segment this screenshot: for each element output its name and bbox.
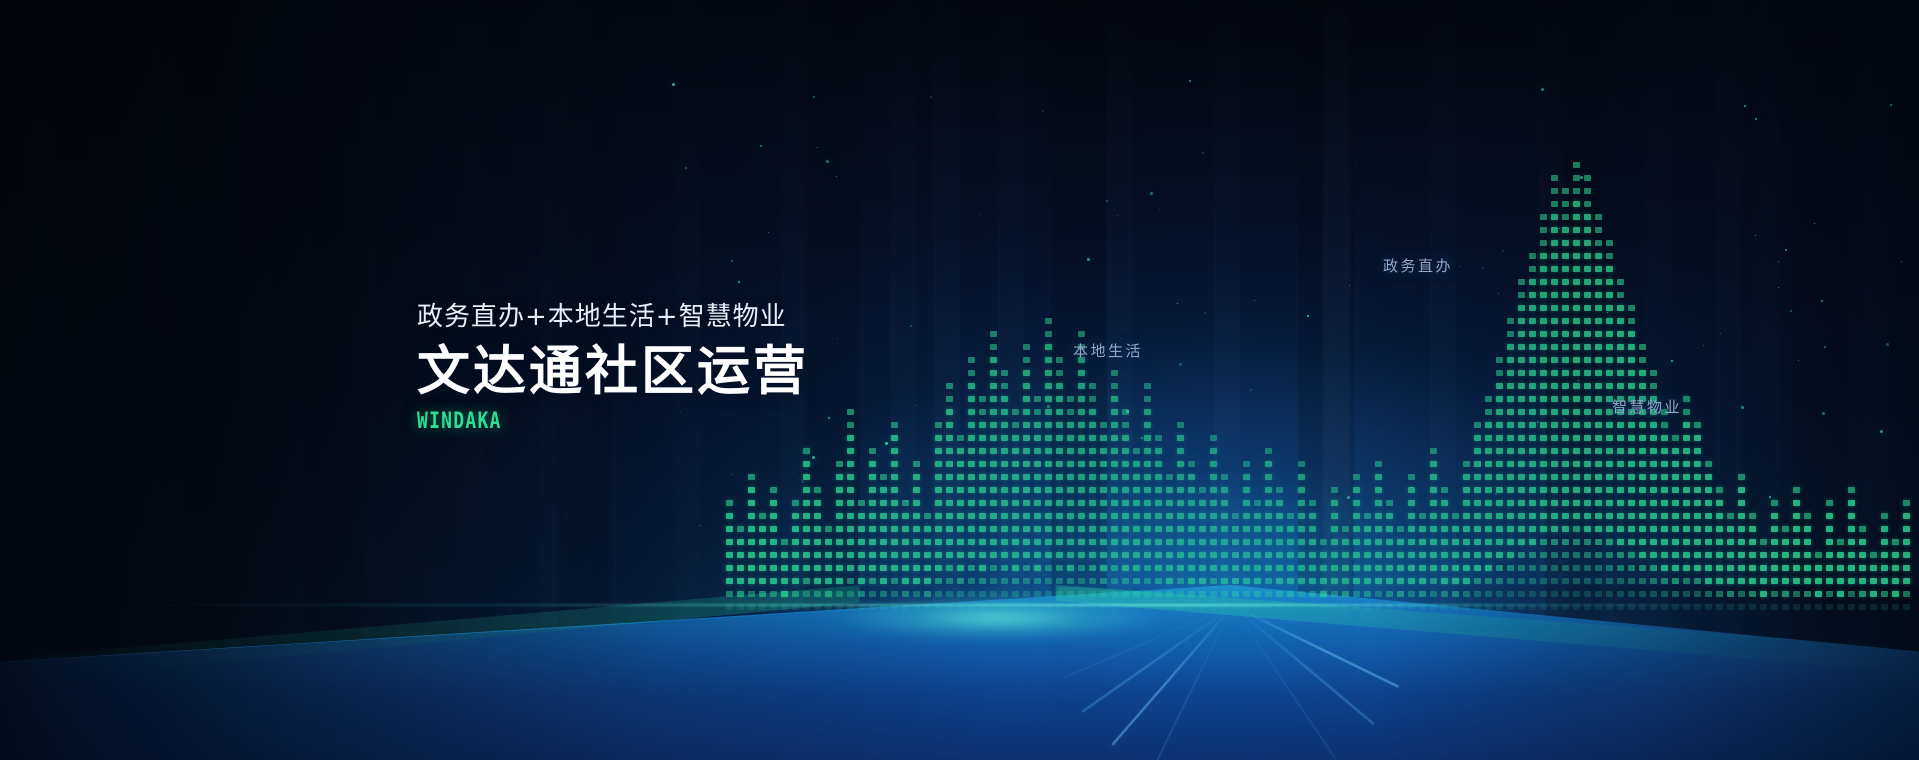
skyline-dot bbox=[935, 513, 942, 519]
skyline-dot bbox=[1518, 344, 1525, 350]
skyline-dot bbox=[1056, 552, 1063, 558]
skyline-dot bbox=[770, 552, 777, 558]
skyline-dot bbox=[1265, 448, 1272, 454]
skyline-dot bbox=[1078, 461, 1085, 467]
skyline-dot bbox=[979, 448, 986, 454]
skyline-dot bbox=[1089, 500, 1096, 506]
skyline-dot bbox=[1144, 435, 1151, 441]
skyline-dot bbox=[902, 565, 909, 571]
skyline-dot bbox=[847, 500, 854, 506]
hero-banner: 政务直办本地生活智慧物业 政务直办+本地生活+智慧物业 文达通社区运营 WIND… bbox=[0, 0, 1919, 760]
skyline-dot bbox=[1100, 435, 1107, 441]
skyline-dot bbox=[1771, 513, 1778, 519]
skyline-dot bbox=[1606, 539, 1613, 545]
skyline-dot bbox=[1870, 578, 1877, 584]
skyline-dot bbox=[1155, 474, 1162, 480]
skyline-bar bbox=[1034, 378, 1041, 610]
skyline-dot bbox=[1881, 578, 1888, 584]
skyline-dot bbox=[1617, 591, 1624, 597]
skyline-dot bbox=[1221, 500, 1228, 506]
skyline-dot bbox=[1254, 513, 1261, 519]
skyline-dot bbox=[1672, 461, 1679, 467]
skyline-dot bbox=[1001, 552, 1008, 558]
skyline-dot bbox=[1628, 305, 1635, 311]
skyline-dot bbox=[1639, 552, 1646, 558]
skyline-dot bbox=[803, 487, 810, 493]
skyline-dot bbox=[1540, 565, 1547, 571]
skyline-dot bbox=[1012, 461, 1019, 467]
skyline-dot bbox=[1573, 357, 1580, 363]
skyline-dot bbox=[1089, 409, 1096, 415]
skyline-dot bbox=[1034, 474, 1041, 480]
skyline-dot bbox=[1320, 539, 1327, 545]
skyline-dot bbox=[1210, 435, 1217, 441]
skyline-dot bbox=[1474, 513, 1481, 519]
skyline-dot bbox=[1661, 578, 1668, 584]
skyline-dot bbox=[1155, 487, 1162, 493]
skyline-bar bbox=[946, 372, 953, 610]
sparkle-dot bbox=[1755, 118, 1757, 120]
skyline-dot bbox=[1518, 526, 1525, 532]
skyline-dot bbox=[1650, 500, 1657, 506]
skyline-dot bbox=[1507, 487, 1514, 493]
skyline-dot bbox=[1353, 500, 1360, 506]
skyline-dot bbox=[1540, 214, 1547, 220]
skyline-dot bbox=[1639, 565, 1646, 571]
skyline-dot bbox=[1551, 552, 1558, 558]
skyline-dot bbox=[1265, 565, 1272, 571]
skyline-dot bbox=[1782, 565, 1789, 571]
skyline-dot bbox=[1309, 513, 1316, 519]
skyline-dot bbox=[1287, 591, 1294, 597]
skyline-dot bbox=[1617, 344, 1624, 350]
skyline-dot bbox=[1507, 422, 1514, 428]
skyline-dot bbox=[1221, 526, 1228, 532]
skyline-dot bbox=[1232, 526, 1239, 532]
skyline-dot bbox=[1331, 500, 1338, 506]
skyline-dot bbox=[990, 409, 997, 415]
skyline-dot bbox=[781, 565, 788, 571]
skyline-dot bbox=[1617, 305, 1624, 311]
skyline-dot bbox=[1441, 513, 1448, 519]
skyline-dot bbox=[1353, 552, 1360, 558]
skyline-dot bbox=[1540, 513, 1547, 519]
skyline-dot bbox=[1298, 552, 1305, 558]
skyline-dot bbox=[1056, 487, 1063, 493]
skyline-dot bbox=[770, 539, 777, 545]
skyline-dot bbox=[1496, 461, 1503, 467]
skyline-dot bbox=[1353, 591, 1360, 597]
skyline-dot bbox=[1144, 461, 1151, 467]
skyline-dot bbox=[1023, 539, 1030, 545]
skyline-bar bbox=[1342, 510, 1349, 610]
skyline-dot bbox=[1672, 578, 1679, 584]
skyline-dot bbox=[1540, 461, 1547, 467]
skyline-dot bbox=[1716, 565, 1723, 571]
skyline-dot bbox=[1540, 474, 1547, 480]
skyline-dot bbox=[803, 448, 810, 454]
skyline-dot bbox=[1848, 565, 1855, 571]
skyline-dot bbox=[1034, 448, 1041, 454]
skyline-dot bbox=[1595, 331, 1602, 337]
skyline-dot bbox=[1419, 565, 1426, 571]
skyline-dot bbox=[1188, 526, 1195, 532]
skyline-dot bbox=[1826, 565, 1833, 571]
skyline-dot bbox=[1177, 474, 1184, 480]
label-local-life: 本地生活 bbox=[1073, 340, 1143, 361]
skyline-dot bbox=[1122, 552, 1129, 558]
skyline-dot bbox=[836, 565, 843, 571]
skyline-dot bbox=[1650, 383, 1657, 389]
skyline-dot bbox=[1452, 552, 1459, 558]
skyline-dot bbox=[770, 565, 777, 571]
skyline-dot bbox=[1023, 565, 1030, 571]
skyline-dot bbox=[1254, 526, 1261, 532]
skyline-dot bbox=[880, 500, 887, 506]
skyline-dot bbox=[979, 552, 986, 558]
skyline-dot bbox=[1749, 526, 1756, 532]
skyline-bar bbox=[1298, 454, 1305, 610]
skyline-dot bbox=[1023, 461, 1030, 467]
skyline-bar bbox=[935, 406, 942, 610]
skyline-dot bbox=[1111, 396, 1118, 402]
skyline-bar bbox=[1309, 490, 1316, 610]
horizon-line bbox=[0, 604, 1919, 606]
skyline-dot bbox=[1034, 565, 1041, 571]
skyline-dot bbox=[1507, 331, 1514, 337]
skyline-dot bbox=[1639, 513, 1646, 519]
skyline-dot bbox=[869, 474, 876, 480]
skyline-bar bbox=[1881, 498, 1888, 610]
skyline-dot bbox=[1353, 513, 1360, 519]
skyline-dot bbox=[1210, 526, 1217, 532]
skyline-dot bbox=[1045, 357, 1052, 363]
skyline-dot bbox=[1672, 513, 1679, 519]
skyline-dot bbox=[1738, 565, 1745, 571]
skyline-dot bbox=[1518, 409, 1525, 415]
skyline-dot bbox=[935, 539, 942, 545]
skyline-dot bbox=[1474, 591, 1481, 597]
skyline-dot bbox=[1067, 539, 1074, 545]
skyline-dot bbox=[1023, 500, 1030, 506]
skyline-dot bbox=[1573, 305, 1580, 311]
skyline-dot bbox=[1562, 409, 1569, 415]
skyline-dot bbox=[1122, 435, 1129, 441]
skyline-dot bbox=[1155, 461, 1162, 467]
skyline-dot bbox=[1562, 578, 1569, 584]
skyline-dot bbox=[979, 474, 986, 480]
skyline-dot bbox=[1661, 461, 1668, 467]
skyline-dot bbox=[968, 526, 975, 532]
skyline-dot bbox=[880, 474, 887, 480]
skyline-dot bbox=[1100, 552, 1107, 558]
skyline-dot bbox=[1342, 578, 1349, 584]
skyline-dot bbox=[1617, 292, 1624, 298]
skyline-dot bbox=[1782, 539, 1789, 545]
skyline-dot bbox=[1034, 461, 1041, 467]
skyline-dot bbox=[1639, 526, 1646, 532]
skyline-dot bbox=[1606, 461, 1613, 467]
skyline-dot bbox=[1628, 552, 1635, 558]
skyline-bar bbox=[1892, 530, 1899, 610]
skyline-dot bbox=[1540, 552, 1547, 558]
skyline-dot bbox=[1496, 500, 1503, 506]
skyline-dot bbox=[1210, 474, 1217, 480]
skyline-dot bbox=[1573, 474, 1580, 480]
skyline-dot bbox=[1573, 513, 1580, 519]
skyline-dot bbox=[1859, 526, 1866, 532]
skyline-dot bbox=[1551, 435, 1558, 441]
skyline-dot bbox=[1540, 487, 1547, 493]
skyline-dot bbox=[1650, 435, 1657, 441]
skyline-dot bbox=[1309, 578, 1316, 584]
skyline-dot bbox=[1122, 539, 1129, 545]
skyline-dot bbox=[1067, 396, 1074, 402]
skyline-dot bbox=[1188, 474, 1195, 480]
skyline-dot bbox=[1232, 513, 1239, 519]
skyline-dot bbox=[1155, 539, 1162, 545]
skyline-dot bbox=[1386, 591, 1393, 597]
skyline-dot bbox=[1617, 487, 1624, 493]
skyline-dot bbox=[1694, 591, 1701, 597]
skyline-dot bbox=[1078, 409, 1085, 415]
skyline-dot bbox=[1111, 552, 1118, 558]
skyline-dot bbox=[1529, 578, 1536, 584]
skyline-dot bbox=[1562, 240, 1569, 246]
skyline-dot bbox=[1661, 422, 1668, 428]
skyline-dot bbox=[1188, 552, 1195, 558]
skyline-dot bbox=[847, 487, 854, 493]
skyline-dot bbox=[1485, 487, 1492, 493]
skyline-dot bbox=[1441, 539, 1448, 545]
skyline-dot bbox=[1078, 565, 1085, 571]
skyline-dot bbox=[1485, 539, 1492, 545]
sparkle-dot bbox=[910, 325, 912, 327]
skyline-dot bbox=[1529, 357, 1536, 363]
skyline-dot bbox=[1551, 500, 1558, 506]
skyline-bar bbox=[1408, 460, 1415, 610]
skyline-dot bbox=[1529, 253, 1536, 259]
skyline-dot bbox=[1529, 422, 1536, 428]
skyline-dot bbox=[979, 513, 986, 519]
skyline-dot bbox=[1881, 539, 1888, 545]
skyline-dot bbox=[1595, 227, 1602, 233]
skyline-dot bbox=[1232, 565, 1239, 571]
skyline-bar bbox=[1474, 414, 1481, 610]
skyline-dot bbox=[1188, 513, 1195, 519]
skyline-dot bbox=[1573, 578, 1580, 584]
skyline-dot bbox=[1177, 552, 1184, 558]
skyline-dot bbox=[1727, 526, 1734, 532]
skyline-dot bbox=[1210, 539, 1217, 545]
skyline-dot bbox=[1639, 422, 1646, 428]
skyline-dot bbox=[770, 500, 777, 506]
skyline-dot bbox=[1606, 344, 1613, 350]
skyline-dot bbox=[1584, 578, 1591, 584]
skyline-dot bbox=[1617, 279, 1624, 285]
skyline-dot bbox=[1518, 318, 1525, 324]
skyline-dot bbox=[1562, 461, 1569, 467]
skyline-dot bbox=[1617, 435, 1624, 441]
skyline-dot bbox=[1892, 565, 1899, 571]
skyline-dot bbox=[1705, 526, 1712, 532]
skyline-dot bbox=[1507, 357, 1514, 363]
skyline-dot bbox=[869, 526, 876, 532]
skyline-dot bbox=[990, 396, 997, 402]
sparkle-dot bbox=[760, 145, 762, 147]
skyline-dot bbox=[1551, 266, 1558, 272]
skyline-dot bbox=[1485, 591, 1492, 597]
skyline-dot bbox=[1584, 409, 1591, 415]
skyline-dot bbox=[726, 552, 733, 558]
sparkle-dot bbox=[685, 167, 687, 169]
skyline-dot bbox=[792, 539, 799, 545]
skyline-dot bbox=[1364, 552, 1371, 558]
skyline-dot bbox=[1771, 565, 1778, 571]
skyline-dot bbox=[990, 487, 997, 493]
skyline-dot bbox=[847, 552, 854, 558]
skyline-dot bbox=[1155, 513, 1162, 519]
skyline-dot bbox=[1749, 513, 1756, 519]
skyline-dot bbox=[1331, 539, 1338, 545]
skyline-dot bbox=[1331, 591, 1338, 597]
skyline-dot bbox=[1056, 565, 1063, 571]
skyline-dot bbox=[1540, 279, 1547, 285]
skyline-dot bbox=[1474, 474, 1481, 480]
skyline-dot bbox=[1056, 474, 1063, 480]
skyline-dot bbox=[770, 487, 777, 493]
skyline-dot bbox=[1408, 526, 1415, 532]
skyline-dot bbox=[1122, 422, 1129, 428]
skyline-dot bbox=[1287, 552, 1294, 558]
skyline-dot bbox=[1573, 175, 1580, 181]
skyline-dot bbox=[1188, 487, 1195, 493]
skyline-dot bbox=[1606, 266, 1613, 272]
skyline-dot bbox=[957, 461, 964, 467]
skyline-dot bbox=[1045, 422, 1052, 428]
skyline-bar bbox=[1375, 442, 1382, 610]
skyline-dot bbox=[1188, 461, 1195, 467]
skyline-bar bbox=[1331, 476, 1338, 610]
skyline-dot bbox=[1507, 578, 1514, 584]
skyline-dot bbox=[1375, 526, 1382, 532]
skyline-dot bbox=[1859, 578, 1866, 584]
sparkle-dot bbox=[1042, 110, 1044, 112]
skyline-dot bbox=[946, 383, 953, 389]
skyline-dot bbox=[1540, 409, 1547, 415]
skyline-dot bbox=[1122, 487, 1129, 493]
skyline-dot bbox=[1584, 435, 1591, 441]
skyline-dot bbox=[1375, 461, 1382, 467]
skyline-dot bbox=[1518, 487, 1525, 493]
skyline-dot bbox=[1870, 591, 1877, 597]
skyline-dot bbox=[1595, 292, 1602, 298]
skyline-dot bbox=[1166, 565, 1173, 571]
skyline-dot bbox=[1694, 474, 1701, 480]
sparkle-dot bbox=[1890, 104, 1892, 106]
skyline-dot bbox=[1056, 513, 1063, 519]
skyline-dot bbox=[1177, 435, 1184, 441]
skyline-dot bbox=[1210, 487, 1217, 493]
skyline-dot bbox=[1551, 292, 1558, 298]
skyline-dot bbox=[924, 565, 931, 571]
skyline-dot bbox=[968, 396, 975, 402]
skyline-dot bbox=[1694, 422, 1701, 428]
skyline-dot bbox=[1298, 513, 1305, 519]
skyline-dot bbox=[1452, 513, 1459, 519]
skyline-dot bbox=[1111, 383, 1118, 389]
skyline-dot bbox=[1771, 526, 1778, 532]
skyline-dot bbox=[1441, 500, 1448, 506]
skyline-dot bbox=[1683, 513, 1690, 519]
skyline-dot bbox=[1848, 552, 1855, 558]
skyline-bar bbox=[1320, 522, 1327, 610]
skyline-dot bbox=[990, 383, 997, 389]
skyline-dot bbox=[1243, 552, 1250, 558]
skyline-dot bbox=[1045, 344, 1052, 350]
skyline-dot bbox=[1023, 422, 1030, 428]
skyline-dot bbox=[1177, 422, 1184, 428]
skyline-dot bbox=[737, 526, 744, 532]
skyline-dot bbox=[1067, 435, 1074, 441]
skyline-dot bbox=[1133, 461, 1140, 467]
skyline-dot bbox=[1705, 513, 1712, 519]
skyline-dot bbox=[1243, 474, 1250, 480]
skyline-dot bbox=[1683, 500, 1690, 506]
skyline-dot bbox=[759, 565, 766, 571]
skyline-dot bbox=[891, 448, 898, 454]
skyline-dot bbox=[1551, 383, 1558, 389]
skyline-dot bbox=[1782, 552, 1789, 558]
skyline-dot bbox=[1507, 513, 1514, 519]
skyline-dot bbox=[1848, 539, 1855, 545]
skyline-dot bbox=[1067, 487, 1074, 493]
skyline-dot bbox=[1133, 526, 1140, 532]
brand-wordmark: WINDAKA bbox=[417, 409, 738, 434]
skyline-dot bbox=[1705, 552, 1712, 558]
skyline-dot bbox=[1529, 370, 1536, 376]
skyline-dot bbox=[1078, 539, 1085, 545]
skyline-dot bbox=[1584, 305, 1591, 311]
skyline-dot bbox=[1144, 422, 1151, 428]
skyline-dot bbox=[1111, 565, 1118, 571]
skyline-dot bbox=[1672, 552, 1679, 558]
skyline-dot bbox=[946, 526, 953, 532]
skyline-dot bbox=[1661, 487, 1668, 493]
skyline-dot bbox=[1265, 513, 1272, 519]
skyline-dot bbox=[1683, 448, 1690, 454]
skyline-dot bbox=[891, 500, 898, 506]
skyline-dot bbox=[1606, 383, 1613, 389]
skyline-dot bbox=[1133, 487, 1140, 493]
skyline-dot bbox=[1441, 487, 1448, 493]
skyline-dot bbox=[1254, 539, 1261, 545]
skyline-dot bbox=[1551, 357, 1558, 363]
skyline-dot bbox=[1639, 461, 1646, 467]
sparkle-dot bbox=[1886, 343, 1889, 346]
skyline-dot bbox=[1100, 487, 1107, 493]
skyline-dot bbox=[1683, 435, 1690, 441]
skyline-dot bbox=[957, 513, 964, 519]
skyline-bar bbox=[1639, 326, 1646, 610]
skyline-dot bbox=[1331, 578, 1338, 584]
skyline-dot bbox=[1078, 435, 1085, 441]
skyline-dot bbox=[1221, 565, 1228, 571]
skyline-dot bbox=[803, 526, 810, 532]
skyline-dot bbox=[759, 513, 766, 519]
skyline-dot bbox=[1518, 448, 1525, 454]
skyline-dot bbox=[1188, 500, 1195, 506]
